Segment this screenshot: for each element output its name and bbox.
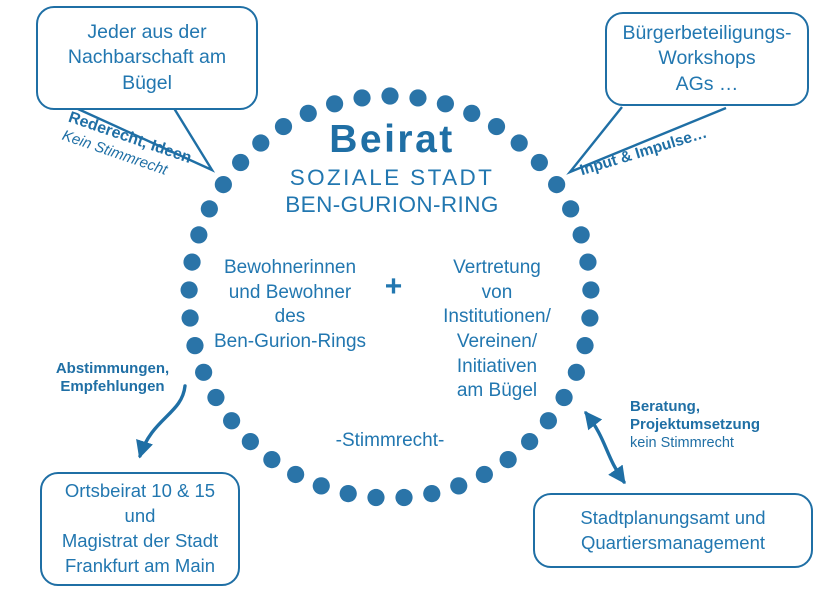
circle-dot: [182, 309, 199, 326]
circle-dot: [500, 451, 517, 468]
members-residents: Bewohnerinnenund BewohnerdesBen-Gurion-R…: [208, 256, 373, 355]
circle-dot: [181, 281, 198, 298]
page-title: Beirat: [212, 120, 572, 159]
plus-icon: +: [373, 272, 415, 302]
members-institutions: VertretungvonInstitutionen/Vereinen/Init…: [415, 256, 580, 404]
voting-right-note: -Stimmrecht-: [280, 430, 500, 452]
bubble-neighbourhood[interactable]: Jeder aus derNachbarschaft amBügel: [36, 6, 258, 110]
subtitle-soziale-stadt: SOZIALE STADT: [212, 166, 572, 191]
bubble-neighbourhood-label: Jeder aus derNachbarschaft amBügel: [62, 20, 232, 96]
box-ortsbeirat-label: Ortsbeirat 10 & 15undMagistrat der Stadt…: [56, 479, 224, 578]
circle-dot: [409, 89, 426, 106]
bubble-participation[interactable]: Bürgerbeteiligungs-WorkshopsAGs …: [605, 12, 809, 106]
circle-dot: [223, 412, 240, 429]
annotation-input-impulse: Input & Impulse…: [578, 112, 751, 181]
circle-dot: [579, 254, 596, 271]
circle-dot: [423, 485, 440, 502]
circle-dot: [476, 466, 493, 483]
box-ortsbeirat-magistrat[interactable]: Ortsbeirat 10 & 15undMagistrat der Stadt…: [40, 472, 240, 586]
circle-dot: [450, 477, 467, 494]
circle-dot: [340, 485, 357, 502]
circle-dot: [263, 451, 280, 468]
circle-dot: [367, 489, 384, 506]
annotation-beratung-line3: kein Stimmrecht: [630, 435, 800, 453]
annotation-abstimmungen-line2: Empfehlungen: [40, 378, 185, 396]
bubble-participation-label: Bürgerbeteiligungs-WorkshopsAGs …: [616, 21, 797, 97]
circle-dot: [242, 433, 259, 450]
circle-dot: [313, 477, 330, 494]
annotation-beratung-line2: Projektumsetzung: [630, 416, 800, 434]
circle-dot: [183, 254, 200, 271]
circle-dot: [437, 95, 454, 112]
circle-dot: [190, 226, 207, 243]
circle-dot: [186, 337, 203, 354]
center-title-block: Beirat SOZIALE STADT BEN-GURION-RING: [212, 120, 572, 218]
circle-dot: [573, 226, 590, 243]
box-stadtplanungsamt[interactable]: Stadtplanungsamt undQuartiersmanagement: [533, 493, 813, 568]
subtitle-ben-gurion-ring: BEN-GURION-RING: [212, 193, 572, 218]
diagram-canvas: Jeder aus derNachbarschaft amBügel Bürge…: [0, 0, 820, 600]
annotation-abstimmungen-line1: Abstimmungen,: [40, 360, 185, 378]
arrow-beratung: [586, 413, 624, 482]
circle-dot: [521, 433, 538, 450]
box-stadtplanung-label: Stadtplanungsamt undQuartiersmanagement: [574, 506, 771, 556]
circle-dot: [381, 87, 398, 104]
circle-dot: [395, 489, 412, 506]
circle-dot: [353, 89, 370, 106]
circle-dot: [540, 412, 557, 429]
annotation-input-impulse-line1: Input & Impulse…: [578, 112, 751, 181]
annotation-beratung-line1: Beratung,: [630, 398, 800, 416]
circle-dot: [287, 466, 304, 483]
members-composition: Bewohnerinnenund BewohnerdesBen-Gurion-R…: [206, 256, 581, 404]
circle-dot: [326, 95, 343, 112]
annotation-abstimmungen: Abstimmungen, Empfehlungen: [40, 360, 185, 397]
circle-dot: [581, 309, 598, 326]
circle-dot: [582, 281, 599, 298]
annotation-beratung: Beratung, Projektumsetzung kein Stimmrec…: [630, 398, 800, 452]
